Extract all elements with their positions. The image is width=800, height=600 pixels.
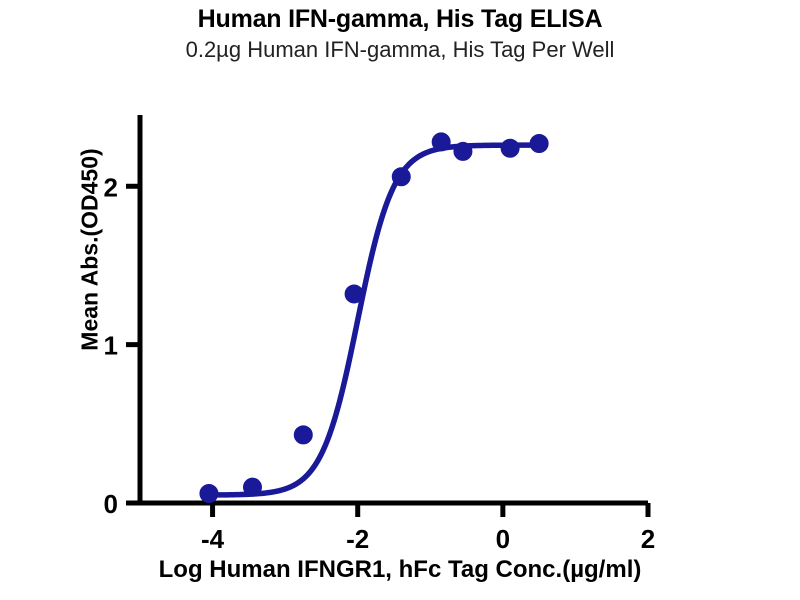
y-tick-label: 2 xyxy=(104,172,118,202)
data-point-marker xyxy=(454,142,472,160)
y-tick-label: 0 xyxy=(104,489,118,519)
y-tick-label: 1 xyxy=(104,331,118,361)
data-point-marker xyxy=(243,478,261,496)
data-point-marker xyxy=(345,285,363,303)
data-points-group xyxy=(200,133,548,503)
data-point-marker xyxy=(530,135,548,153)
data-point-marker xyxy=(200,485,218,503)
x-tick-label: 2 xyxy=(641,524,655,554)
axis-lines-group xyxy=(126,115,648,517)
plot-area: -4-202 012 xyxy=(0,0,800,600)
x-tick-label-group: -4-202 xyxy=(201,524,655,554)
data-point-marker xyxy=(432,133,450,151)
data-point-marker xyxy=(501,139,519,157)
y-tick-label-group: 012 xyxy=(104,172,118,519)
y-axis-title: Mean Abs.(OD450) xyxy=(77,40,104,460)
x-tick-label: 0 xyxy=(496,524,510,554)
x-tick-label: -2 xyxy=(346,524,369,554)
fit-curve-group xyxy=(209,145,539,495)
x-tick-label: -4 xyxy=(201,524,225,554)
data-point-marker xyxy=(392,168,410,186)
dose-response-fit-curve xyxy=(209,145,539,495)
x-axis-title: Log Human IFNGR1, hFc Tag Conc.(µg/ml) xyxy=(0,556,800,584)
elisa-chart-figure: Human IFN-gamma, His Tag ELISA 0.2µg Hum… xyxy=(0,0,800,600)
data-point-marker xyxy=(294,426,312,444)
